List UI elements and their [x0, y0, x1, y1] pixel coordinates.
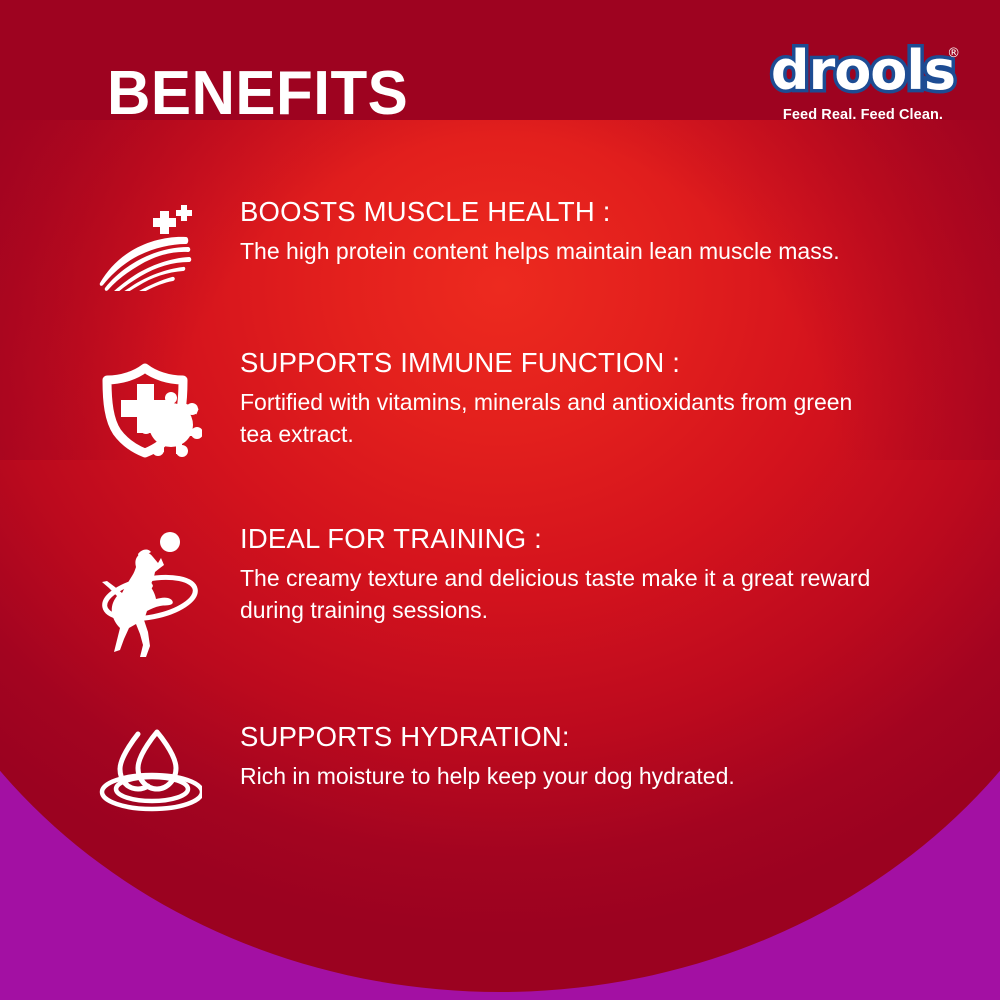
- muscle-icon: [95, 197, 205, 291]
- benefit-item-muscle-health: BOOSTS MUSCLE HEALTH : The high protein …: [95, 197, 935, 291]
- benefits-poster: BENEFITS drools ® Feed Real. Feed Clean.: [0, 0, 1000, 1000]
- benefit-description: The creamy texture and delicious taste m…: [240, 562, 880, 627]
- benefit-heading: SUPPORTS HYDRATION:: [240, 722, 935, 753]
- benefit-text-block: SUPPORTS IMMUNE FUNCTION : Fortified wit…: [205, 348, 935, 451]
- benefit-item-supports-hydration: SUPPORTS HYDRATION: Rich in moisture to …: [95, 722, 935, 812]
- poster-content: BENEFITS drools ® Feed Real. Feed Clean.: [0, 0, 1000, 1000]
- benefit-item-immune-function: SUPPORTS IMMUNE FUNCTION : Fortified wit…: [95, 348, 935, 458]
- brand-logo: drools ® Feed Real. Feed Clean.: [768, 44, 958, 123]
- benefit-description: The high protein content helps maintain …: [240, 235, 880, 268]
- benefit-description: Rich in moisture to help keep your dog h…: [240, 760, 880, 793]
- registered-trademark-icon: ®: [947, 47, 959, 60]
- dog-jumping-hoop-icon: [95, 524, 205, 664]
- benefit-text-block: BOOSTS MUSCLE HEALTH : The high protein …: [205, 197, 935, 267]
- benefit-heading: BOOSTS MUSCLE HEALTH :: [240, 197, 935, 228]
- benefit-text-block: IDEAL FOR TRAINING : The creamy texture …: [205, 524, 935, 627]
- drools-wordmark-text: drools: [771, 39, 955, 102]
- benefit-heading: SUPPORTS IMMUNE FUNCTION :: [240, 348, 935, 379]
- benefit-item-ideal-for-training: IDEAL FOR TRAINING : The creamy texture …: [95, 524, 935, 664]
- shield-virus-icon: [95, 348, 205, 458]
- page-title: BENEFITS: [107, 63, 408, 125]
- benefit-description: Fortified with vitamins, minerals and an…: [240, 386, 880, 451]
- brand-tagline: Feed Real. Feed Clean.: [768, 107, 958, 123]
- water-droplet-ripple-icon: [95, 722, 205, 812]
- benefit-heading: IDEAL FOR TRAINING :: [240, 524, 935, 555]
- benefit-text-block: SUPPORTS HYDRATION: Rich in moisture to …: [205, 722, 935, 792]
- drools-wordmark: drools ®: [771, 44, 955, 98]
